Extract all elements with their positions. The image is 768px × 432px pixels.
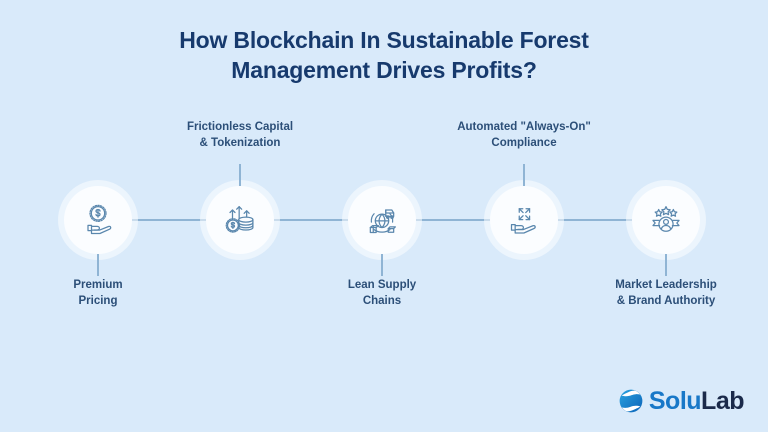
- timeline-label-3: Lean Supply Chains: [287, 278, 477, 309]
- timeline-label-2-line-1: Frictionless Capital: [187, 121, 293, 133]
- timeline-stem-2: [239, 164, 241, 186]
- coin-stack-growth-arrows-icon: [220, 200, 260, 240]
- timeline-stem-1: [97, 254, 99, 276]
- timeline-stem-3: [381, 254, 383, 276]
- timeline-node-5[interactable]: [632, 186, 700, 254]
- timeline-label-5-line-1: Market Leadership: [615, 279, 717, 291]
- hand-expanding-arrows-icon: [504, 200, 544, 240]
- infographic-canvas: How Blockchain In Sustainable Forest Man…: [0, 0, 768, 432]
- timeline-label-3-line-2: Chains: [363, 295, 401, 307]
- solulab-logo[interactable]: SoluLab: [618, 388, 744, 414]
- timeline-stem-4: [523, 164, 525, 186]
- timeline-node-1[interactable]: [64, 186, 132, 254]
- process-timeline: Premium Pricing: [0, 0, 768, 432]
- timeline-node-2[interactable]: [206, 186, 274, 254]
- timeline-label-3-line-1: Lean Supply: [348, 279, 416, 291]
- solulab-logo-mark-icon: [618, 388, 644, 414]
- hand-holding-dollar-coin-icon: [78, 200, 118, 240]
- timeline-node-3[interactable]: [348, 186, 416, 254]
- timeline-label-1-line-2: Pricing: [79, 295, 118, 307]
- timeline-label-2: Frictionless Capital & Tokenization: [145, 120, 335, 151]
- timeline-label-5-line-2: & Brand Authority: [617, 295, 716, 307]
- solulab-logo-text-secondary: Lab: [701, 387, 744, 415]
- solulab-logo-text-primary: Solu: [649, 387, 701, 415]
- timeline-label-5: Market Leadership & Brand Authority: [571, 278, 761, 309]
- solulab-logo-text: SoluLab: [649, 388, 744, 414]
- person-badge-stars-icon: [646, 200, 686, 240]
- timeline-label-4-line-1: Automated "Always-On": [457, 121, 591, 133]
- timeline-label-1-line-1: Premium: [73, 279, 122, 291]
- timeline-label-4-line-2: Compliance: [491, 137, 556, 149]
- timeline-stem-5: [665, 254, 667, 276]
- global-supply-chain-globe-icon: [362, 200, 402, 240]
- timeline-label-4: Automated "Always-On" Compliance: [429, 120, 619, 151]
- timeline-node-4[interactable]: [490, 186, 558, 254]
- timeline-label-1: Premium Pricing: [3, 278, 193, 309]
- timeline-label-2-line-2: & Tokenization: [200, 137, 281, 149]
